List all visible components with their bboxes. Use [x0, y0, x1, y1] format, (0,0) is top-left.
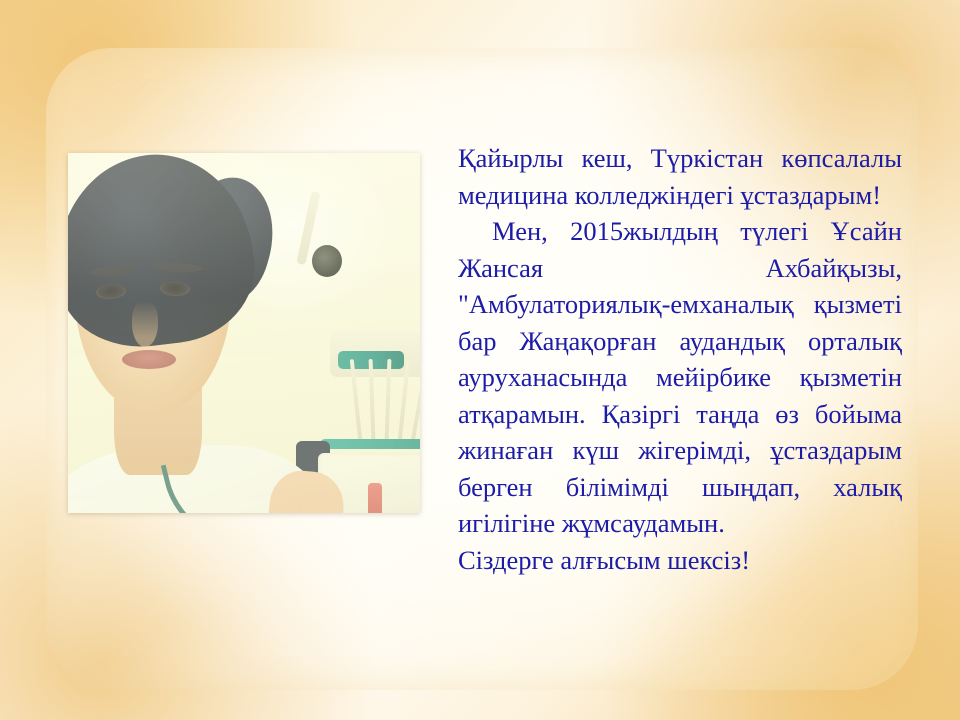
photo-canvas: [68, 153, 420, 513]
presentation-slide: Қайырлы кеш, Түркістан көпсалалы медицин…: [0, 0, 960, 720]
paragraph-introduction: Мен, 2015жылдың түлегі Ұсайн Жансая Ахба…: [458, 213, 902, 542]
paragraph-greeting: Қайырлы кеш, Түркістан көпсалалы медицин…: [458, 140, 902, 213]
photo-warm-tint: [68, 153, 420, 513]
message-text-block: Қайырлы кеш, Түркістан көпсалалы медицин…: [458, 140, 902, 578]
portrait-photo: [68, 153, 420, 513]
paragraph-closing: Сіздерге алғысым шексіз!: [458, 542, 902, 579]
